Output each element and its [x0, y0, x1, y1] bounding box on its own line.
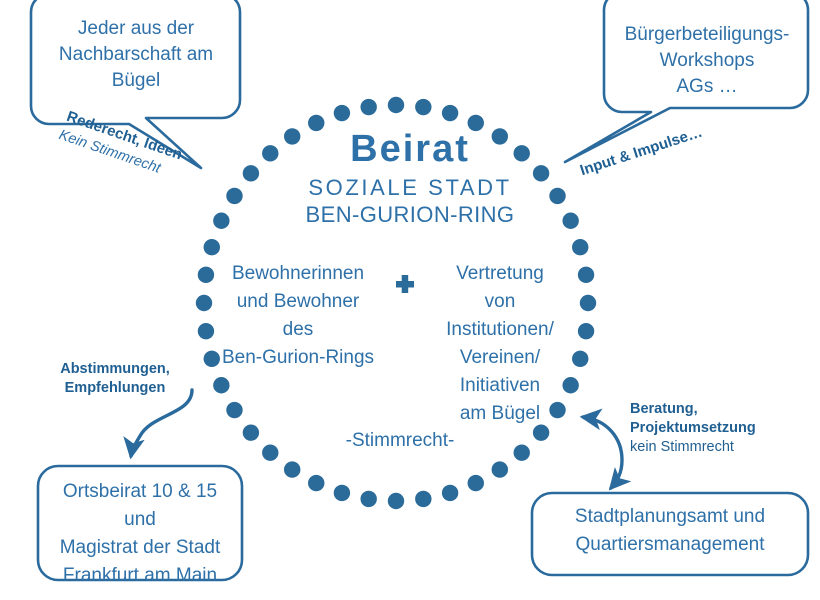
center-column-left: Bewohnerinnen und Bewohner des Ben-Gurio…: [212, 260, 384, 372]
ring-dot: [578, 267, 594, 283]
bubble-top-left-text: Jeder aus der Nachbarschaft am Bügel: [40, 16, 232, 94]
arrow-label-kein-stimmrecht: kein Stimmrecht: [630, 438, 810, 457]
ring-dot: [360, 491, 376, 507]
ring-dot: [580, 295, 596, 311]
center-footer-note: -Stimmrecht-: [300, 430, 500, 452]
arrow-to-ortsbeirat: [131, 390, 192, 456]
ring-dot: [213, 213, 229, 229]
ring-dot: [572, 239, 588, 255]
arrow-beratung-double: [583, 417, 622, 488]
ring-dot: [308, 475, 324, 491]
bubble-top-right-text: Bürgerbeteiligungs- Workshops AGs …: [608, 22, 806, 100]
subtitle-soziale-stadt: SOZIALE STADT: [230, 175, 590, 201]
ring-dot: [284, 461, 300, 477]
ring-dot: [514, 444, 530, 460]
center-column-right: Vertretung von Institutionen/ Vereinen/ …: [420, 260, 580, 428]
plus-icon: [396, 275, 414, 293]
ring-dot: [468, 475, 484, 491]
ring-dot: [334, 105, 350, 121]
arrow-label-abstimmungen: Abstimmungen, Empfehlungen: [40, 360, 190, 398]
ring-dot: [226, 402, 242, 418]
ring-dot: [492, 461, 508, 477]
ring-dot: [388, 493, 404, 509]
box-bottom-left-text: Ortsbeirat 10 & 15 und Magistrat der Sta…: [42, 478, 238, 590]
ring-dot: [442, 105, 458, 121]
ring-dot: [213, 377, 229, 393]
ring-dot: [415, 491, 431, 507]
arrow-label-beratung: Beratung, Projektumsetzung: [630, 400, 810, 438]
ring-dot: [442, 485, 458, 501]
box-bottom-right-text: Stadtplanungsamt und Quartiersmanagement: [540, 503, 800, 559]
ring-dot: [196, 295, 212, 311]
subtitle-ben-gurion-ring: BEN-GURION-RING: [230, 202, 590, 228]
ring-dot: [243, 424, 259, 440]
diagram-canvas: Jeder aus der Nachbarschaft am Bügel Red…: [0, 0, 820, 600]
ring-dot: [415, 99, 431, 115]
ring-dot: [334, 485, 350, 501]
ring-dot: [388, 97, 404, 113]
ring-dot: [204, 239, 220, 255]
page-title: Beirat: [230, 128, 590, 171]
ring-dot: [262, 444, 278, 460]
ring-dot: [360, 99, 376, 115]
ring-dot: [578, 323, 594, 339]
